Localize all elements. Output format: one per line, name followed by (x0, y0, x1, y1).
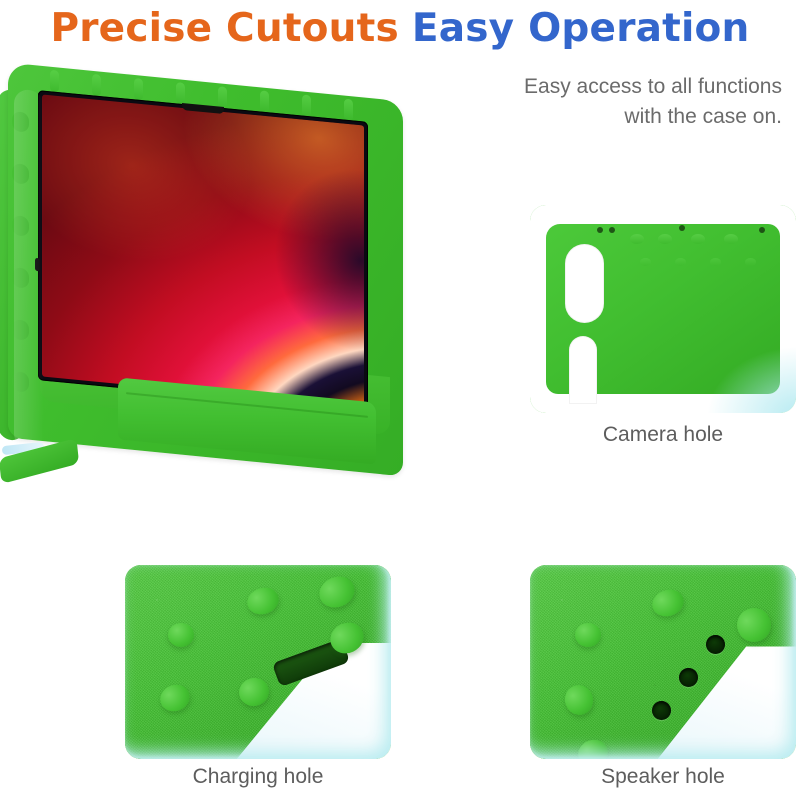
speaker-hole-image (530, 565, 796, 759)
case-side-nub (12, 215, 29, 237)
panel-speaker-caption: Speaker hole (530, 765, 796, 789)
wallpaper-shadow (42, 94, 364, 407)
secondary-cutout (569, 336, 597, 404)
case-side-nub (12, 267, 29, 289)
mic-hole (597, 227, 603, 233)
case-top-ridge (302, 94, 311, 117)
panel-camera-caption: Camera hole (530, 423, 796, 447)
case-top-ridge (344, 99, 353, 122)
foam-bump (724, 234, 738, 244)
subtitle-line-1: Easy access to all functions (400, 72, 782, 102)
camera-hole-image (530, 205, 796, 413)
case-top-ridge (176, 82, 185, 105)
panel-charging-caption: Charging hole (125, 765, 391, 789)
case-top-ridge (260, 90, 269, 113)
case-side-nub (12, 111, 29, 133)
foam-bump (168, 623, 194, 647)
speaker-cutout (706, 635, 725, 654)
subtitle-line-2: with the case on. (400, 102, 782, 132)
speaker-cutout (679, 668, 698, 687)
case-side-nub (12, 319, 29, 341)
foam-bump (640, 258, 651, 266)
page-title-part-two: Easy Operation (412, 6, 750, 51)
foam-bump (691, 234, 705, 244)
hero-tablet-in-case (0, 60, 450, 520)
page-title: Precise Cutouts Easy Operation (0, 0, 800, 56)
foam-bump (630, 234, 644, 244)
product-feature-graphic: Precise Cutouts Easy Operation Easy acce… (0, 0, 800, 801)
case-side-nub (12, 163, 29, 185)
tablet-wallpaper (42, 94, 364, 407)
mic-hole (609, 227, 615, 233)
subtitle: Easy access to all functions with the ca… (400, 72, 782, 132)
foam-bump (745, 258, 756, 266)
foam-bump (675, 258, 686, 266)
mic-hole (679, 225, 685, 231)
case-top-ridge (134, 78, 143, 101)
panel-camera-hole: Camera hole (530, 205, 796, 413)
case-top-ridge (50, 70, 59, 93)
tablet-screen (38, 90, 368, 412)
charging-hole-image (125, 565, 391, 759)
foam-bump (658, 234, 672, 244)
mic-hole (759, 227, 765, 233)
panel-mint-fade (706, 346, 796, 413)
case-top-ridge (92, 74, 101, 97)
case-side-nub (12, 371, 29, 393)
foam-bump (710, 258, 721, 266)
side-button (35, 258, 40, 271)
panel-charging-hole: Charging hole (125, 565, 391, 759)
panel-speaker-hole: Speaker hole (530, 565, 796, 759)
camera-cutout (565, 244, 605, 322)
page-title-part-one: Precise Cutouts (50, 6, 398, 51)
